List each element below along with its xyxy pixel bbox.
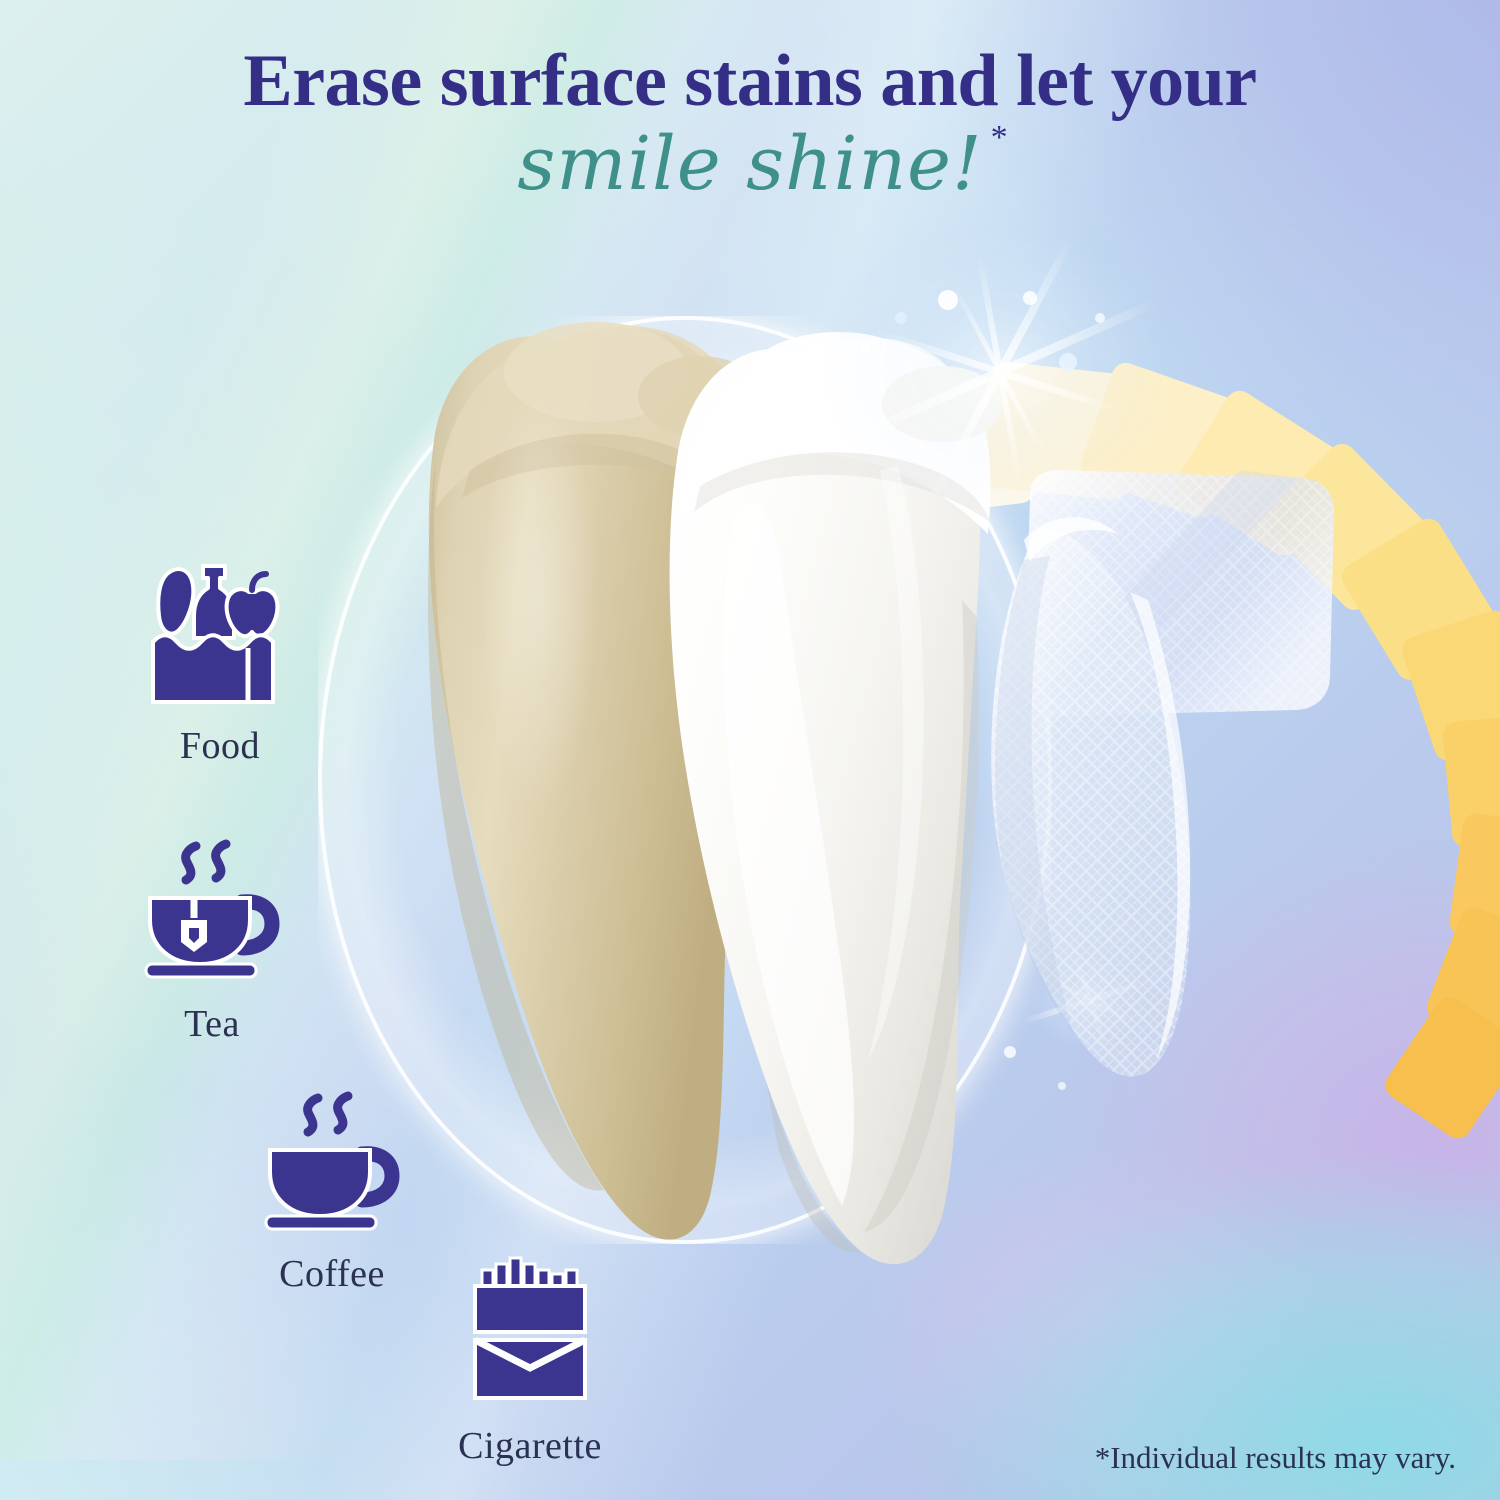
stain-source-label-cigarette: Cigarette [410, 1424, 650, 1468]
product-marketing-image: Erase surface stains and let your smile … [0, 0, 1500, 1500]
footnote-disclaimer: *Individual results may vary. [1095, 1440, 1456, 1476]
headline-line-2: smile shine! * [517, 127, 982, 201]
teacup-icon [138, 836, 286, 986]
stain-source-food: Food [96, 556, 344, 768]
stain-source-label-tea: Tea [112, 1002, 312, 1046]
stain-source-label-coffee: Coffee [232, 1252, 432, 1296]
subheadline-text: smile shine! [517, 121, 982, 207]
stain-source-tea: Tea [112, 836, 312, 1046]
headline-block: Erase surface stains and let your smile … [0, 44, 1500, 201]
stain-source-coffee: Coffee [232, 1086, 432, 1296]
stain-source-cigarette: Cigarette [410, 1256, 650, 1468]
coffee-cup-icon [258, 1086, 406, 1236]
headline-line-1: Erase surface stains and let your [0, 44, 1500, 119]
cigarette-pack-icon [455, 1256, 605, 1408]
stain-source-label-food: Food [96, 724, 344, 768]
grocery-bag-icon [145, 556, 295, 708]
asterisk-marker: * [991, 121, 1009, 155]
